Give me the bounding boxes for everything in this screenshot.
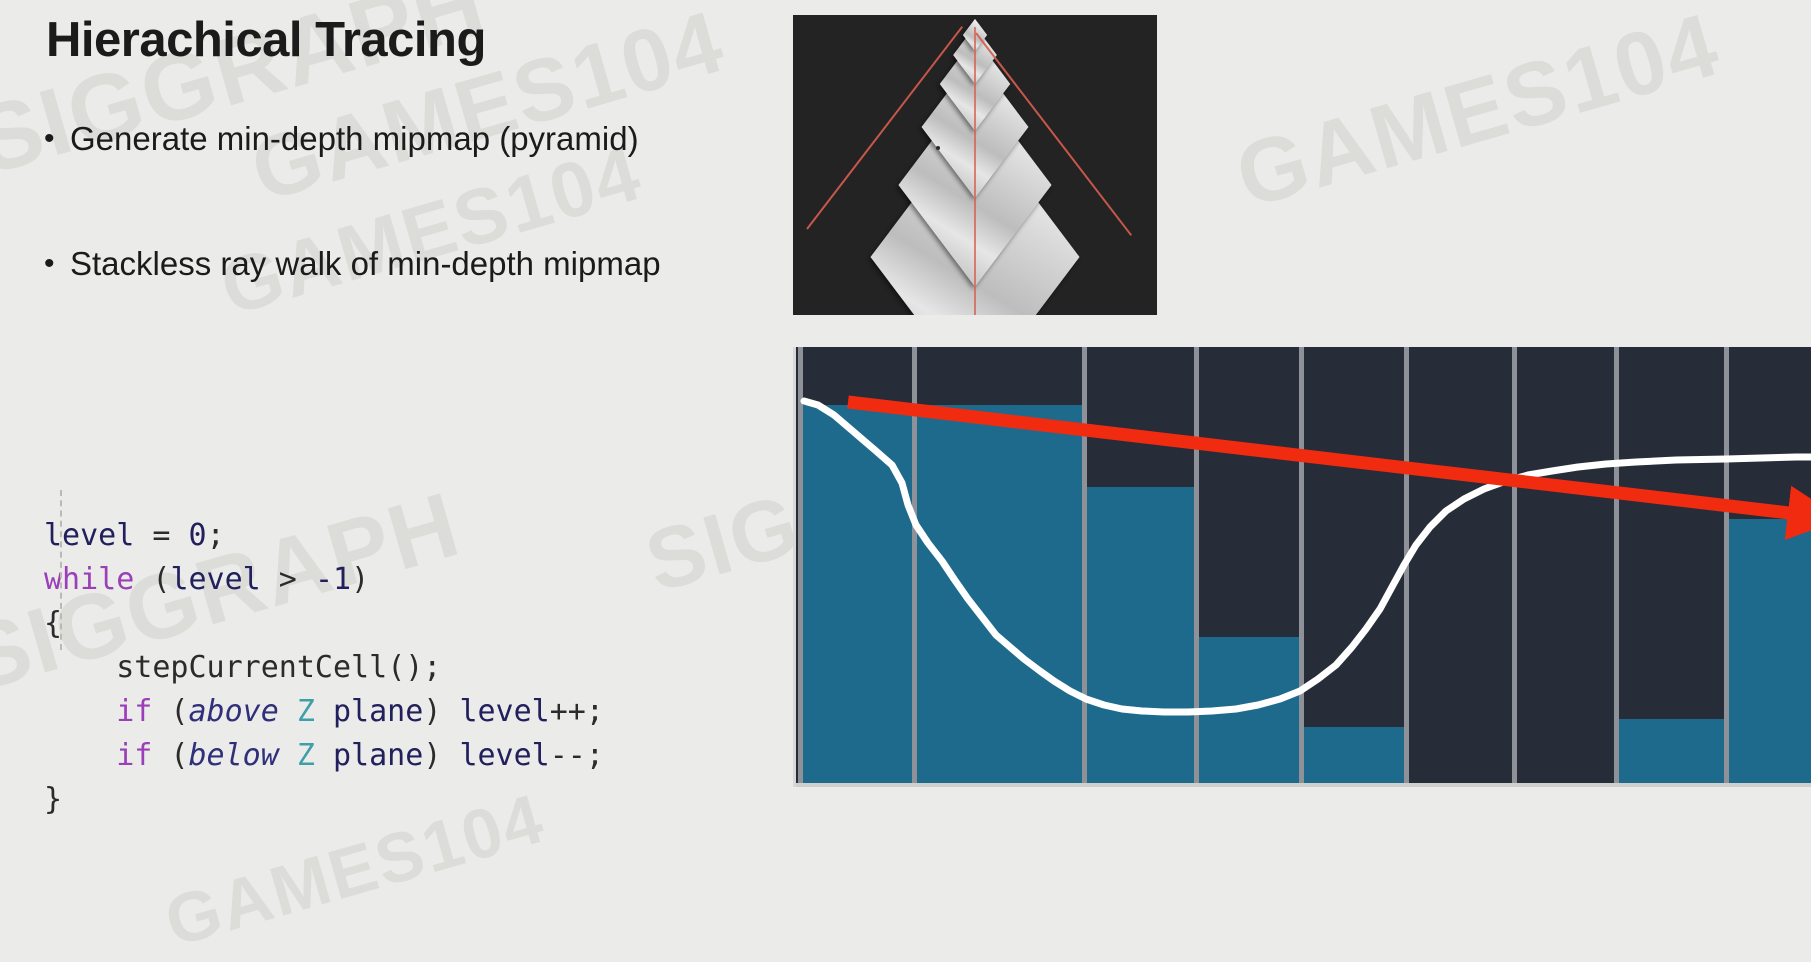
code-token: ) — [423, 738, 459, 773]
code-token: level — [44, 518, 134, 553]
hiz-bottom-border — [796, 783, 1811, 787]
code-token: > — [261, 562, 315, 597]
code-token: ( — [152, 694, 188, 729]
code-token: if — [116, 694, 152, 729]
code-token: } — [44, 782, 62, 817]
bullet-text: Stackless ray walk of min-depth mipmap — [70, 245, 661, 283]
code-token: ; — [207, 518, 225, 553]
pyramid-sample-point-dot — [936, 146, 940, 150]
pyramid-axis-line — [974, 27, 976, 315]
code-token: plane — [315, 694, 423, 729]
code-lines: level = 0;while (level > -1){ stepCurren… — [44, 514, 604, 822]
page-title: Hierachical Tracing — [46, 12, 486, 68]
code-token: --; — [550, 738, 604, 773]
code-token: ( — [134, 562, 170, 597]
hierarchical-depth-trace-image — [793, 347, 1811, 787]
min-depth-mipmap-pyramid-image — [793, 15, 1157, 315]
code-token: plane — [315, 738, 423, 773]
code-token: ) — [351, 562, 369, 597]
indent-guide — [60, 490, 62, 650]
bullet-text: Generate min-depth mipmap (pyramid) — [70, 120, 639, 158]
code-token: = — [134, 518, 188, 553]
code-token: above — [189, 694, 279, 729]
watermark: GAMES104 — [211, 127, 652, 334]
ray-arrow — [796, 347, 1811, 787]
code-token — [44, 694, 116, 729]
bullet-item-1: • Stackless ray walk of min-depth mipmap — [44, 245, 661, 283]
code-token: if — [116, 738, 152, 773]
code-token — [44, 738, 116, 773]
code-token: -1 — [315, 562, 351, 597]
code-line-5: if (below Z plane) level--; — [44, 734, 604, 778]
code-line-2: { — [44, 602, 604, 646]
code-token: ( — [152, 738, 188, 773]
code-line-0: level = 0; — [44, 514, 604, 558]
code-line-3: stepCurrentCell(); — [44, 646, 604, 690]
code-token: level — [170, 562, 260, 597]
bullet-marker-icon: • — [44, 245, 70, 283]
code-token: (); — [387, 650, 441, 685]
code-token — [279, 738, 297, 773]
code-token: stepCurrentCell — [116, 650, 387, 685]
code-token: 0 — [189, 518, 207, 553]
code-token — [279, 694, 297, 729]
code-line-4: if (above Z plane) level++; — [44, 690, 604, 734]
code-token: while — [44, 562, 134, 597]
code-token: Z — [297, 738, 315, 773]
watermark: GAMES104 — [1225, 0, 1730, 229]
code-token: level — [459, 738, 549, 773]
code-block: level = 0;while (level > -1){ stepCurren… — [44, 382, 604, 866]
code-token: ) — [423, 694, 459, 729]
bullet-item-0: • Generate min-depth mipmap (pyramid) — [44, 120, 639, 158]
code-token: Z — [297, 694, 315, 729]
code-token: level — [459, 694, 549, 729]
code-line-6: } — [44, 778, 604, 822]
code-token — [44, 650, 116, 685]
code-line-1: while (level > -1) — [44, 558, 604, 602]
bullet-marker-icon: • — [44, 120, 70, 158]
code-token: below — [189, 738, 279, 773]
code-token: ++; — [550, 694, 604, 729]
